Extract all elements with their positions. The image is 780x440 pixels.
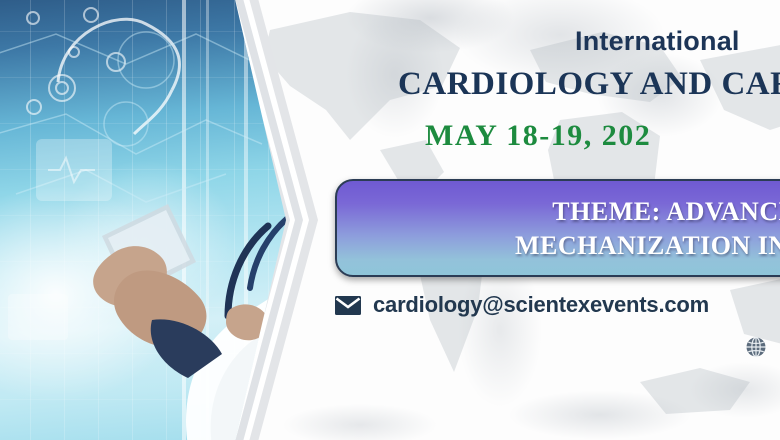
medical-tech-photo bbox=[0, 0, 286, 440]
globe-icon bbox=[745, 336, 767, 358]
headline-small: International bbox=[575, 26, 740, 57]
theme-line-2: MECHANIZATION IN CARDIOL bbox=[337, 231, 780, 261]
email-address[interactable]: cardiology@scientexevents.com bbox=[373, 292, 709, 318]
envelope-icon bbox=[335, 296, 361, 315]
event-date: MAY 18-19, 202 bbox=[425, 119, 651, 153]
medical-tech-photo-panel bbox=[0, 0, 318, 440]
theme-badge: THEME: ADVANCED MECHANIZATION IN CARDIOL bbox=[335, 179, 780, 277]
page-title: CARDIOLOGY AND CAR bbox=[398, 66, 780, 103]
website-contact[interactable] bbox=[745, 336, 767, 358]
email-contact[interactable]: cardiology@scientexevents.com bbox=[335, 292, 709, 318]
theme-line-1: THEME: ADVANCED bbox=[337, 197, 780, 227]
conference-banner: International CARDIOLOGY AND CAR MAY 18-… bbox=[0, 0, 780, 440]
banner-content: International CARDIOLOGY AND CAR MAY 18-… bbox=[330, 0, 780, 440]
